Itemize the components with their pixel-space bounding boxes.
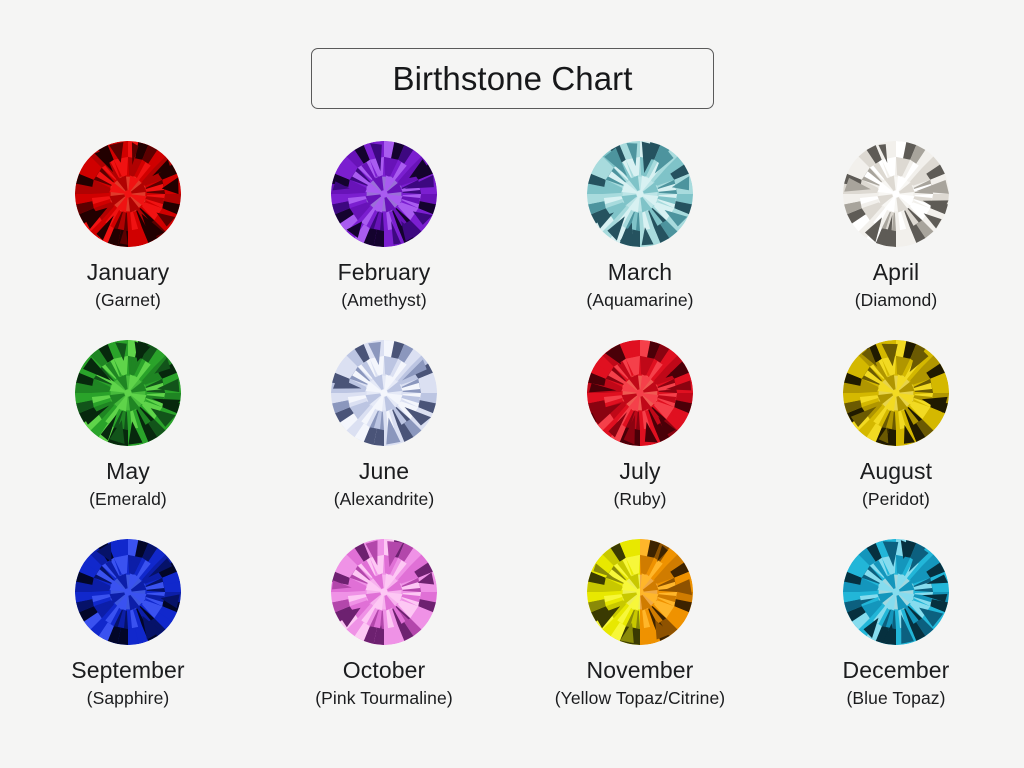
- title-box: Birthstone Chart: [311, 48, 714, 109]
- birthstone-cell-september: September(Sapphire): [0, 538, 256, 737]
- stone-name-label: (Sapphire): [87, 689, 170, 707]
- birthstone-chart-page: Birthstone Chart January(Garnet)February…: [0, 0, 1024, 768]
- month-label: December: [843, 658, 950, 682]
- birthstone-cell-july: July(Ruby): [512, 339, 768, 538]
- month-label: March: [608, 260, 672, 284]
- stone-name-label: (Yellow Topaz/Citrine): [555, 689, 725, 707]
- month-label: January: [87, 260, 170, 284]
- gemstone-round-brilliant-icon: [586, 140, 694, 248]
- birthstone-cell-december: December(Blue Topaz): [768, 538, 1024, 737]
- birthstone-cell-january: January(Garnet): [0, 140, 256, 339]
- month-label: July: [619, 459, 660, 483]
- gemstone-round-brilliant-icon: [842, 339, 950, 447]
- birthstone-cell-august: August(Peridot): [768, 339, 1024, 538]
- stone-name-label: (Aquamarine): [586, 291, 693, 309]
- month-label: October: [343, 658, 426, 682]
- birthstone-cell-november: November(Yellow Topaz/Citrine): [512, 538, 768, 737]
- gemstone-round-brilliant-icon: [74, 140, 182, 248]
- month-label: June: [359, 459, 409, 483]
- month-label: November: [587, 658, 694, 682]
- birthstone-cell-april: April(Diamond): [768, 140, 1024, 339]
- stone-name-label: (Garnet): [95, 291, 161, 309]
- birthstone-cell-february: February(Amethyst): [256, 140, 512, 339]
- month-label: May: [106, 459, 150, 483]
- stone-name-label: (Blue Topaz): [846, 689, 945, 707]
- gemstone-round-brilliant-icon: [74, 339, 182, 447]
- gemstone-round-brilliant-icon: [330, 538, 438, 646]
- gemstone-round-brilliant-icon: [74, 538, 182, 646]
- birthstone-grid: January(Garnet)February(Amethyst)March(A…: [0, 140, 1024, 737]
- stone-name-label: (Pink Tourmaline): [315, 689, 453, 707]
- birthstone-cell-may: May(Emerald): [0, 339, 256, 538]
- month-label: September: [71, 658, 184, 682]
- stone-name-label: (Amethyst): [341, 291, 427, 309]
- gemstone-round-brilliant-icon: [842, 538, 950, 646]
- stone-name-label: (Ruby): [613, 490, 666, 508]
- gemstone-round-brilliant-icon: [586, 339, 694, 447]
- gemstone-round-brilliant-split-icon: [586, 538, 694, 646]
- stone-name-label: (Emerald): [89, 490, 167, 508]
- page-title: Birthstone Chart: [392, 62, 632, 95]
- month-label: February: [338, 260, 431, 284]
- birthstone-cell-march: March(Aquamarine): [512, 140, 768, 339]
- birthstone-cell-october: October(Pink Tourmaline): [256, 538, 512, 737]
- stone-name-label: (Diamond): [855, 291, 938, 309]
- gemstone-round-brilliant-icon: [842, 140, 950, 248]
- month-label: August: [860, 459, 932, 483]
- stone-name-label: (Alexandrite): [334, 490, 435, 508]
- month-label: April: [873, 260, 920, 284]
- stone-name-label: (Peridot): [862, 490, 930, 508]
- birthstone-cell-june: June(Alexandrite): [256, 339, 512, 538]
- gemstone-round-brilliant-icon: [330, 339, 438, 447]
- gemstone-round-brilliant-icon: [330, 140, 438, 248]
